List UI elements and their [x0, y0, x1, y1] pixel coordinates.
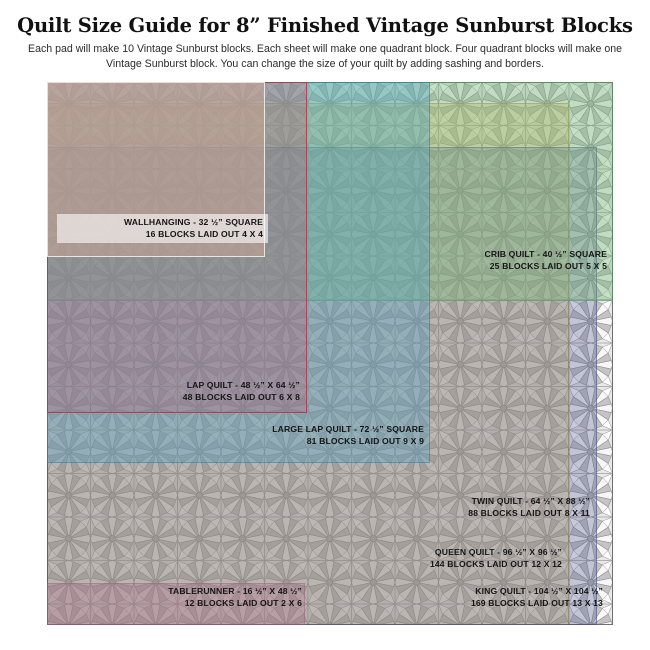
label-king-line-1: KING QUILT - 104 ½” X 104 ½” — [475, 586, 603, 596]
label-lap-quilt: LAP QUILT - 48 ½” X 64 ½” 48 BLOCKS LAID… — [102, 379, 300, 403]
label-large-lap-line-1: LARGE LAP QUILT - 72 ½” SQUARE — [272, 424, 424, 434]
subtitle-line-1: Each pad will make 10 Vintage Sunburst b… — [28, 43, 555, 55]
label-wallhanging: WALLHANGING - 32 ½” SQUARE 16 BLOCKS LAI… — [57, 214, 268, 243]
label-crib-line-2: 25 BLOCKS LAID OUT 5 X 5 — [402, 260, 607, 272]
label-twin-quilt: TWIN QUILT - 64 ½” X 88 ½” 88 BLOCKS LAI… — [397, 495, 590, 519]
label-king-line-2: 169 BLOCKS LAID OUT 13 X 13 — [400, 597, 603, 609]
label-tablerunner: TABLERUNNER - 16 ½” X 48 ½” 12 BLOCKS LA… — [107, 585, 302, 609]
quilt-size-guide-page: Quilt Size Guide for 8” Finished Vintage… — [0, 0, 650, 650]
label-tablerunner-line-2: 12 BLOCKS LAID OUT 2 X 6 — [107, 597, 302, 609]
label-wallhanging-line-2: 16 BLOCKS LAID OUT 4 X 4 — [63, 228, 263, 240]
label-lap-line-2: 48 BLOCKS LAID OUT 6 X 8 — [102, 391, 300, 403]
label-crib-line-1: CRIB QUILT - 40 ½” SQUARE — [485, 249, 607, 259]
label-lap-line-1: LAP QUILT - 48 ½” X 64 ½” — [187, 380, 300, 390]
label-crib-quilt: CRIB QUILT - 40 ½” SQUARE 25 BLOCKS LAID… — [402, 248, 607, 272]
label-tablerunner-line-1: TABLERUNNER - 16 ½” X 48 ½” — [168, 586, 302, 596]
label-queen-line-1: QUEEN QUILT - 96 ½” X 96 ½” — [435, 547, 562, 557]
label-twin-line-2: 88 BLOCKS LAID OUT 8 X 11 — [397, 507, 590, 519]
label-twin-line-1: TWIN QUILT - 64 ½” X 88 ½” — [472, 496, 590, 506]
header: Quilt Size Guide for 8” Finished Vintage… — [0, 0, 650, 71]
label-wallhanging-line-1: WALLHANGING - 32 ½” SQUARE — [124, 217, 263, 227]
page-title: Quilt Size Guide for 8” Finished Vintage… — [0, 0, 650, 37]
page-subtitle: Each pad will make 10 Vintage Sunburst b… — [16, 42, 634, 71]
quilt-size-diagram: WALLHANGING - 32 ½” SQUARE 16 BLOCKS LAI… — [47, 82, 613, 625]
label-large-lap-quilt: LARGE LAP QUILT - 72 ½” SQUARE 81 BLOCKS… — [212, 423, 424, 447]
label-large-lap-line-2: 81 BLOCKS LAID OUT 9 X 9 — [212, 435, 424, 447]
label-queen-line-2: 144 BLOCKS LAID OUT 12 X 12 — [357, 558, 562, 570]
label-queen-quilt: QUEEN QUILT - 96 ½” X 96 ½” 144 BLOCKS L… — [357, 546, 562, 570]
label-king-quilt: KING QUILT - 104 ½” X 104 ½” 169 BLOCKS … — [400, 585, 603, 609]
